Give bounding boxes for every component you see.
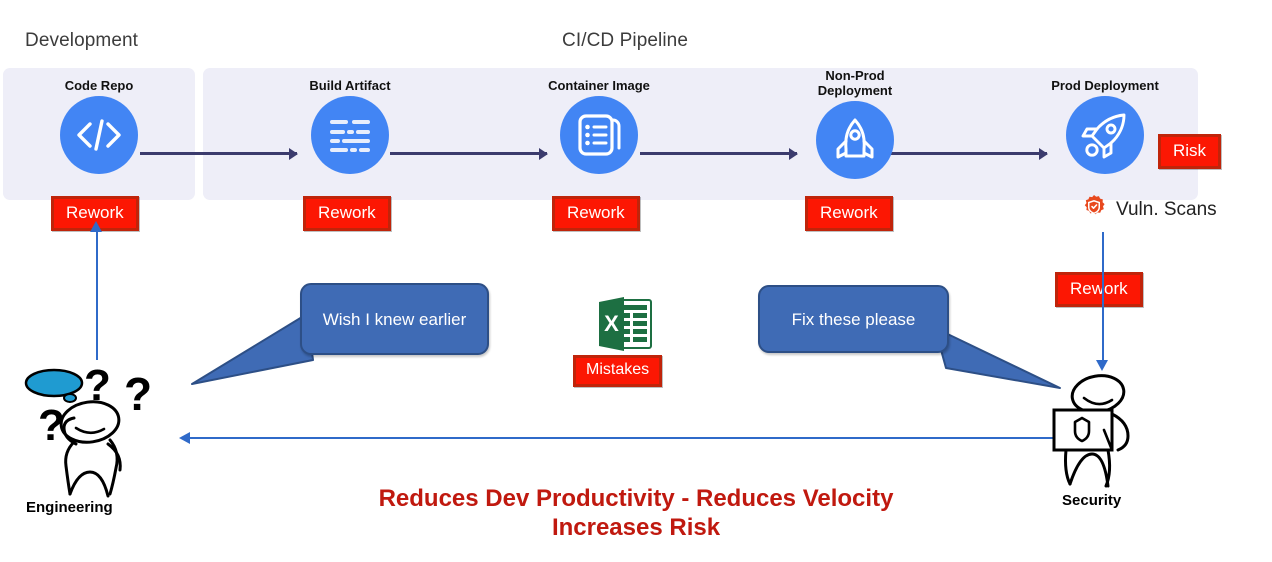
- stage-label-code-repo: Code Repo: [19, 78, 179, 93]
- arrow-head-left: [179, 432, 190, 444]
- badge-rework-build-artifact[interactable]: Rework: [303, 196, 391, 231]
- badge-rework-security-loop[interactable]: Rework: [1055, 272, 1143, 307]
- engineering-bubble-text: Wish I knew earlier: [323, 308, 467, 331]
- engineering-bubble[interactable]: Wish I knew earlier: [300, 283, 489, 355]
- build-lines-icon: [311, 96, 389, 174]
- svg-text:?: ?: [124, 368, 152, 420]
- security-bubble-text: Fix these please: [792, 308, 916, 331]
- stage-label-build-artifact: Build Artifact: [270, 78, 430, 93]
- confused-person-icon: ? ? ?: [12, 358, 172, 503]
- diagram-canvas: Development CI/CD Pipeline Code Repo Bui…: [0, 0, 1272, 562]
- feedback-arrow-security-to-engineering: [190, 437, 1082, 439]
- stage-node-non-prod-deployment[interactable]: Non-Prod Deployment: [775, 68, 935, 179]
- security-bubble[interactable]: Fix these please: [758, 285, 949, 353]
- stage-label-container-image: Container Image: [519, 78, 679, 93]
- stage-node-container-image[interactable]: Container Image: [519, 78, 679, 174]
- stage-label-non-prod-deployment: Non-Prod Deployment: [775, 68, 935, 98]
- stage-label-prod-deployment: Prod Deployment: [1025, 78, 1185, 93]
- rework-arrow-down-to-security: [1102, 232, 1104, 362]
- document-list-icon: [560, 96, 638, 174]
- lane-title-development: Development: [25, 30, 138, 52]
- excel-spreadsheet-icon: X: [596, 294, 654, 361]
- stage-node-build-artifact[interactable]: Build Artifact: [270, 78, 430, 174]
- badge-rework-container-image[interactable]: Rework: [552, 196, 640, 231]
- badge-rework-non-prod[interactable]: Rework: [805, 196, 893, 231]
- lane-title-cicd: CI/CD Pipeline: [562, 30, 688, 52]
- vuln-scans-label: Vuln. Scans: [1116, 199, 1217, 221]
- arrow-head-down: [1096, 360, 1108, 371]
- headline-text: Reduces Dev Productivity - Reduces Veloc…: [0, 484, 1272, 542]
- code-brackets-icon: [60, 96, 138, 174]
- rocket-up-icon: [816, 101, 894, 179]
- vuln-scans-item[interactable]: Vuln. Scans: [1081, 194, 1217, 225]
- person-with-shield-laptop-icon: [1042, 372, 1162, 495]
- badge-risk[interactable]: Risk: [1158, 134, 1221, 169]
- rocket-tilt-icon: [1066, 96, 1144, 174]
- stage-node-code-repo[interactable]: Code Repo: [19, 78, 179, 174]
- svg-text:X: X: [604, 311, 619, 336]
- feedback-arrow-up-to-code-repo: [96, 228, 98, 360]
- arrow-head-up: [90, 221, 102, 232]
- gear-shield-icon: [1081, 194, 1107, 225]
